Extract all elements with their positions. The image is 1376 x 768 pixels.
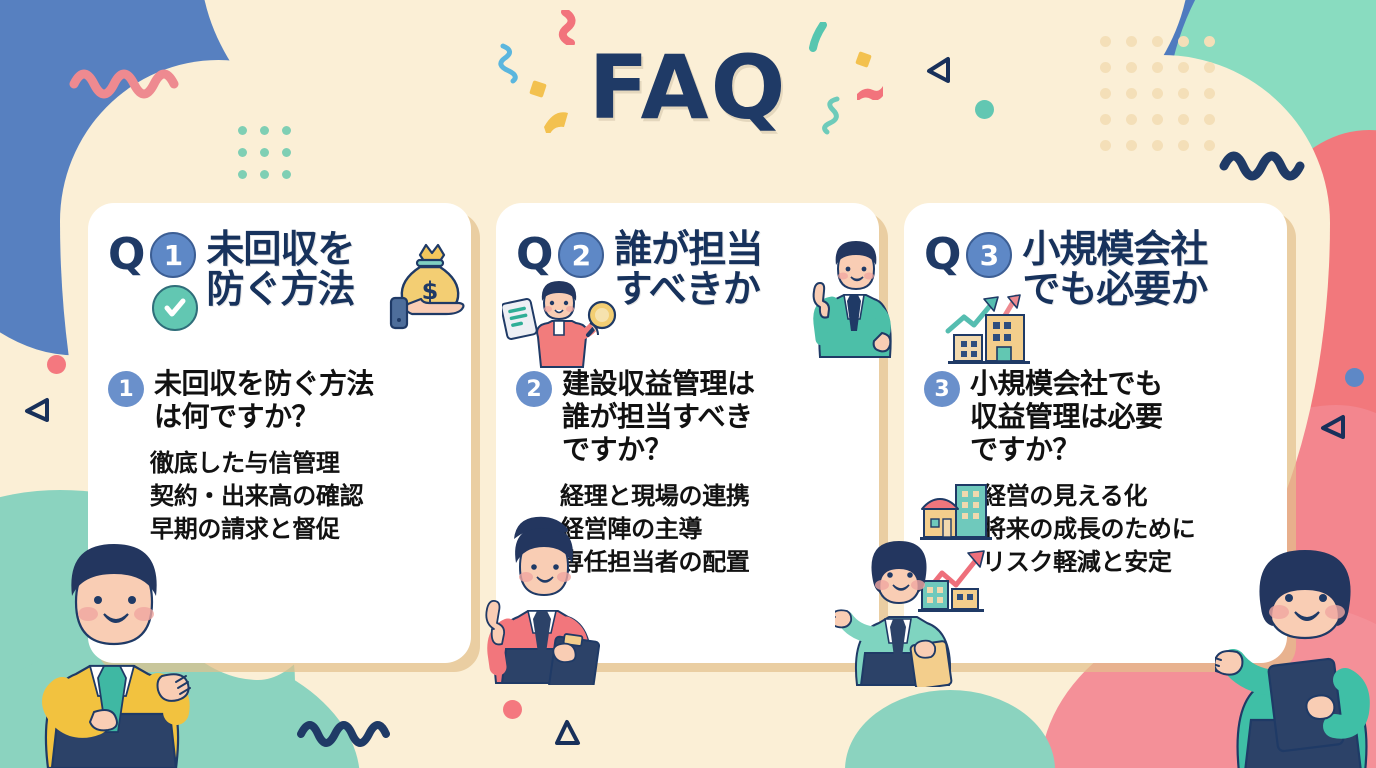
card-2-item-number: 2 — [516, 371, 552, 407]
card-3-item-number: 3 — [924, 371, 960, 407]
card-2-question: 建設収益管理は 誰が担当すべき ですか？ — [562, 367, 755, 466]
navy-wave-top-right — [1218, 140, 1338, 182]
card-2-head-title: 誰が担当 すべきか — [614, 229, 762, 310]
card-2-answer-2: 経営陣の主導 — [560, 513, 859, 546]
card-3-question: 小規模会社でも 収益管理は必要 ですか？ — [970, 367, 1163, 466]
card-3-q-number-badge: 3 — [966, 232, 1012, 278]
card-1-question: 未回収を防ぐ方法 は何ですか？ — [154, 367, 374, 433]
card-3-header: Q 3 小規模会社 でも必要か — [924, 229, 1267, 361]
card-2-header: Q 2 誰が担当 すべきか — [516, 229, 859, 361]
card-1-answer-2: 契約・出来高の確認 — [150, 480, 451, 513]
faq-card-3[interactable]: Q 3 小規模会社 でも必要か — [904, 203, 1287, 663]
card-2-q-label: Q — [516, 229, 552, 281]
card-3-answer-2: 将来の成長のために — [982, 513, 1267, 546]
pink-dot-confetti-bottom — [503, 700, 522, 719]
card-2-q-number-badge: 2 — [558, 232, 604, 278]
card-2-answers: 経理と現場の連携 経営陣の主導 専任担当者の配置 — [560, 480, 859, 579]
man-pointing-icon — [802, 229, 906, 365]
money-bag-hand-icon: $ — [386, 241, 478, 345]
card-3-q-label: Q — [924, 229, 960, 281]
navy-triangle-outline-left — [22, 395, 52, 425]
woman-clipboard-magnifier-icon — [502, 281, 632, 381]
card-1-header: Q 1 未回収を 防ぐ方法 $ — [108, 229, 451, 361]
card-1-qa: 1 未回収を防ぐ方法 は何ですか？ — [108, 367, 451, 433]
card-1-q-number-badge: 1 — [150, 232, 196, 278]
card-3-answer-1: 経営の見える化 — [982, 480, 1267, 513]
svg-text:$: $ — [422, 277, 439, 305]
card-2-answer-1: 経理と現場の連携 — [560, 480, 859, 513]
navy-triangle-outline-right — [1318, 412, 1348, 442]
card-3-qa: 3 小規模会社でも 収益管理は必要 ですか？ — [924, 367, 1267, 466]
faq-card-2[interactable]: Q 2 誰が担当 すべきか — [496, 203, 879, 663]
card-2-answer-3: 専任担当者の配置 — [560, 546, 859, 579]
faq-card-list: Q 1 未回収を 防ぐ方法 $ — [88, 203, 1288, 663]
card-1-head-title: 未回収を 防ぐ方法 — [206, 229, 354, 310]
card-2-qa: 2 建設収益管理は 誰が担当すべき ですか？ — [516, 367, 859, 466]
green-blob-bottom-center — [845, 690, 1055, 768]
navy-wave-bottom-left — [295, 710, 430, 752]
card-1-answers: 徹底した与信管理 契約・出来高の確認 早期の請求と督促 — [150, 447, 451, 546]
card-1-item-number: 1 — [108, 371, 144, 407]
card-1-q-label: Q — [108, 229, 144, 281]
blue-dot-confetti-right — [1345, 368, 1364, 387]
faq-infographic: FAQ Q 1 未回収を 防ぐ方法 — [0, 0, 1376, 768]
pink-dot-confetti-left — [47, 355, 66, 374]
check-circle-icon — [152, 285, 198, 331]
page-title: FAQ — [0, 36, 1376, 139]
card-3-head-title: 小規模会社 でも必要か — [1022, 229, 1207, 310]
faq-card-1[interactable]: Q 1 未回収を 防ぐ方法 $ — [88, 203, 471, 663]
card-3-answer-3: リスク軽減と安定 — [982, 546, 1267, 579]
card-1-answer-1: 徹底した与信管理 — [150, 447, 451, 480]
navy-triangle-outline-bottom — [552, 718, 582, 748]
card-1-answer-3: 早期の請求と督促 — [150, 513, 451, 546]
card-3-answers: 経営の見える化 将来の成長のために リスク軽減と安定 — [982, 480, 1267, 579]
